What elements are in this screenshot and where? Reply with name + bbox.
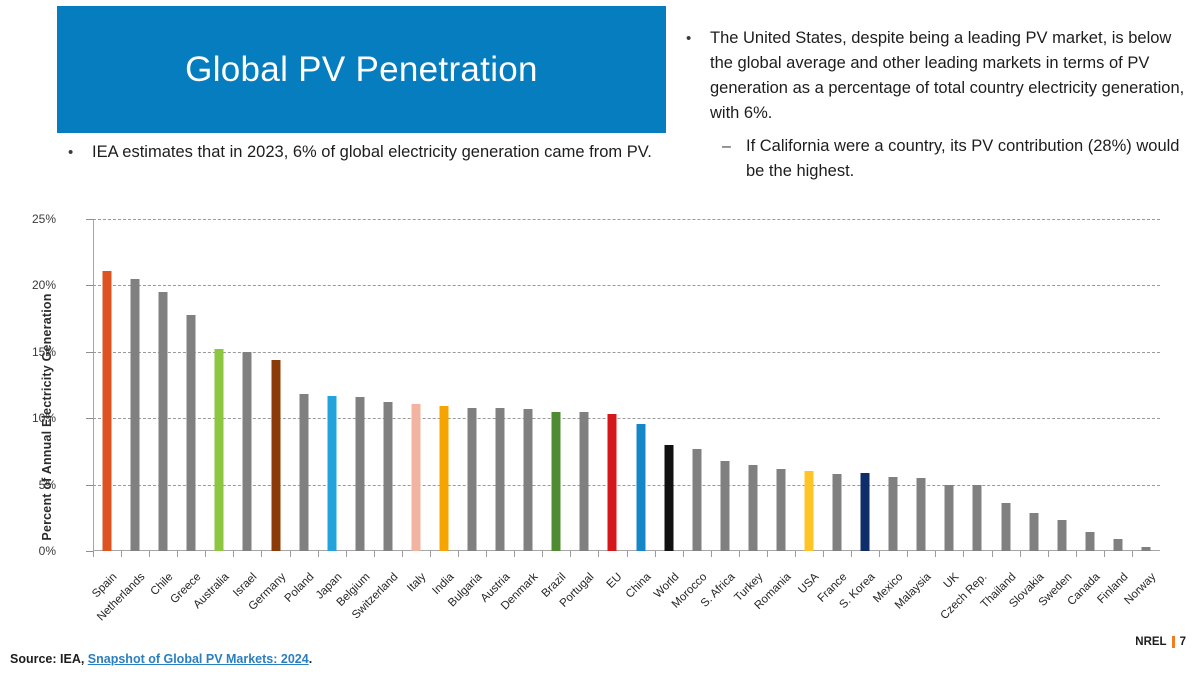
bar-slot — [1132, 219, 1160, 551]
x-tick-mark — [907, 551, 908, 557]
bar[interactable] — [355, 397, 364, 551]
bar[interactable] — [243, 352, 252, 551]
y-tick-label: 20% — [12, 278, 56, 292]
bar-slot — [823, 219, 851, 551]
bar-slot — [627, 219, 655, 551]
bar-slot — [177, 219, 205, 551]
x-tick-mark — [767, 551, 768, 557]
x-tick-mark — [1076, 551, 1077, 557]
slide-title-banner: Global PV Penetration — [57, 6, 666, 133]
bar-series — [93, 219, 1160, 551]
x-tick-mark — [1132, 551, 1133, 557]
x-tick-mark — [318, 551, 319, 557]
bar[interactable] — [1141, 547, 1150, 551]
bar[interactable] — [159, 292, 168, 551]
x-label-wrapper: EU — [605, 571, 625, 591]
x-tick-mark — [823, 551, 824, 557]
x-tick-mark — [542, 551, 543, 557]
bar[interactable] — [1113, 539, 1122, 551]
bar-slot — [907, 219, 935, 551]
x-tick-mark — [683, 551, 684, 557]
bar[interactable] — [215, 349, 224, 551]
y-tick-mark — [86, 285, 93, 286]
bar[interactable] — [720, 461, 729, 551]
bar[interactable] — [271, 360, 280, 551]
y-tick-mark — [86, 219, 93, 220]
x-tick-mark — [290, 551, 291, 557]
bar[interactable] — [748, 465, 757, 551]
bar[interactable] — [468, 408, 477, 551]
x-tick-mark — [570, 551, 571, 557]
bar-slot — [570, 219, 598, 551]
bar[interactable] — [1085, 532, 1094, 551]
bar[interactable] — [383, 402, 392, 551]
bar-slot — [290, 219, 318, 551]
bar-slot — [402, 219, 430, 551]
bar-slot — [655, 219, 683, 551]
x-tick-mark — [655, 551, 656, 557]
bullet-item: • IEA estimates that in 2023, 6% of glob… — [68, 140, 668, 165]
bullet-marker-icon: • — [68, 140, 92, 165]
y-tick-label: 15% — [12, 345, 56, 359]
bar-slot — [430, 219, 458, 551]
x-tick-mark — [177, 551, 178, 557]
bullet-marker-icon: • — [686, 26, 710, 51]
bar-slot — [992, 219, 1020, 551]
x-tick-mark — [795, 551, 796, 557]
dash-marker-icon: – — [722, 134, 746, 159]
x-tick-label: China — [623, 571, 653, 601]
bar[interactable] — [833, 474, 842, 551]
bar[interactable] — [552, 412, 561, 551]
bar[interactable] — [327, 396, 336, 551]
bar-slot — [261, 219, 289, 551]
bar[interactable] — [439, 406, 448, 551]
bar[interactable] — [411, 404, 420, 551]
x-tick-mark — [1020, 551, 1021, 557]
bar-slot — [514, 219, 542, 551]
bar[interactable] — [1029, 513, 1038, 552]
bar-slot — [963, 219, 991, 551]
x-tick-mark — [374, 551, 375, 557]
sub-bullet-text: If California were a country, its PV con… — [746, 134, 1186, 184]
x-tick-mark — [739, 551, 740, 557]
bar-slot — [205, 219, 233, 551]
x-tick-mark — [430, 551, 431, 557]
x-tick-mark — [233, 551, 234, 557]
bar-slot — [851, 219, 879, 551]
y-tick-mark — [86, 485, 93, 486]
bar-slot — [149, 219, 177, 551]
pv-penetration-bar-chart: Percent of Annual Electricity Generation… — [0, 205, 1200, 635]
bar[interactable] — [103, 271, 112, 551]
bar[interactable] — [692, 449, 701, 551]
bar[interactable] — [131, 279, 140, 551]
x-tick-label: Poland — [282, 571, 316, 605]
left-bullet-list: • IEA estimates that in 2023, 6% of glob… — [68, 140, 668, 165]
page-title: Global PV Penetration — [185, 50, 538, 90]
x-tick-mark — [992, 551, 993, 557]
x-tick-mark — [1104, 551, 1105, 557]
bar[interactable] — [917, 478, 926, 551]
x-tick-mark — [121, 551, 122, 557]
bar-slot — [374, 219, 402, 551]
bar-slot — [1048, 219, 1076, 551]
bar-slot — [879, 219, 907, 551]
nrel-logo-text: NREL — [1135, 636, 1166, 648]
x-tick-mark — [514, 551, 515, 557]
bar[interactable] — [776, 469, 785, 551]
bar-slot — [486, 219, 514, 551]
bar-slot — [233, 219, 261, 551]
bar-slot — [767, 219, 795, 551]
bar[interactable] — [608, 414, 617, 551]
x-tick-mark — [93, 551, 94, 557]
bar-slot — [711, 219, 739, 551]
y-tick-mark — [86, 352, 93, 353]
x-label-wrapper: Poland — [282, 571, 316, 605]
x-tick-mark — [935, 551, 936, 557]
bar-slot — [598, 219, 626, 551]
bar-slot — [1076, 219, 1104, 551]
bar-slot — [1104, 219, 1132, 551]
bar-slot — [739, 219, 767, 551]
source-citation: Source: IEA, Snapshot of Global PV Marke… — [10, 652, 312, 666]
bar[interactable] — [580, 412, 589, 551]
x-tick-mark — [879, 551, 880, 557]
x-tick-mark — [486, 551, 487, 557]
x-tick-mark — [261, 551, 262, 557]
x-tick-mark — [963, 551, 964, 557]
bar-slot — [542, 219, 570, 551]
x-label-wrapper: Italy — [405, 571, 428, 594]
bar-slot — [318, 219, 346, 551]
bar-slot — [1020, 219, 1048, 551]
bar-slot — [93, 219, 121, 551]
separator-bar-icon — [1172, 636, 1175, 648]
bullet-text: The United States, despite being a leadi… — [710, 26, 1186, 126]
bar[interactable] — [889, 477, 898, 551]
bar[interactable] — [496, 408, 505, 551]
source-hyperlink[interactable]: Snapshot of Global PV Markets: 2024 — [88, 652, 309, 666]
x-tick-mark — [149, 551, 150, 557]
x-tick-mark — [598, 551, 599, 557]
bar[interactable] — [187, 315, 196, 551]
bar-slot — [458, 219, 486, 551]
x-tick-mark — [346, 551, 347, 557]
bar[interactable] — [805, 471, 814, 551]
bar-slot — [795, 219, 823, 551]
x-tick-mark — [402, 551, 403, 557]
bar[interactable] — [636, 424, 645, 551]
bar[interactable] — [945, 485, 954, 551]
right-bullet-list: • The United States, despite being a lea… — [686, 26, 1186, 184]
bar[interactable] — [664, 445, 673, 551]
x-label-wrapper: UK — [942, 571, 962, 591]
x-tick-mark — [851, 551, 852, 557]
source-suffix: . — [309, 652, 312, 666]
x-tick-mark — [1048, 551, 1049, 557]
y-tick-label: 5% — [12, 478, 56, 492]
nrel-footer: NREL 7 — [1135, 636, 1186, 648]
x-tick-mark — [627, 551, 628, 557]
plot-area: 0%5%10%15%20%25% SpainNetherlandsChileGr… — [93, 219, 1160, 551]
y-tick-mark — [86, 551, 93, 552]
page-number: 7 — [1180, 636, 1186, 648]
bar[interactable] — [973, 485, 982, 551]
y-tick-label: 25% — [12, 212, 56, 226]
x-tick-label: Italy — [405, 571, 428, 594]
bar-slot — [935, 219, 963, 551]
bullet-item: • The United States, despite being a lea… — [686, 26, 1186, 126]
x-tick-label: EU — [605, 571, 625, 591]
bullet-text: IEA estimates that in 2023, 6% of global… — [92, 140, 652, 165]
bar[interactable] — [1001, 503, 1010, 551]
x-tick-mark — [205, 551, 206, 557]
bar-slot — [346, 219, 374, 551]
bar[interactable] — [299, 394, 308, 551]
source-prefix: Source: IEA, — [10, 652, 88, 666]
x-tick-mark — [711, 551, 712, 557]
x-tick-label: UK — [942, 571, 962, 591]
x-label-wrapper: China — [623, 571, 653, 601]
y-tick-mark — [86, 418, 93, 419]
y-tick-label: 10% — [12, 411, 56, 425]
bar-slot — [121, 219, 149, 551]
x-tick-mark — [458, 551, 459, 557]
y-tick-label: 0% — [12, 544, 56, 558]
bar-slot — [683, 219, 711, 551]
bar[interactable] — [1057, 520, 1066, 551]
bar[interactable] — [524, 409, 533, 551]
sub-bullet-item: – If California were a country, its PV c… — [722, 134, 1186, 184]
bar[interactable] — [861, 473, 870, 551]
